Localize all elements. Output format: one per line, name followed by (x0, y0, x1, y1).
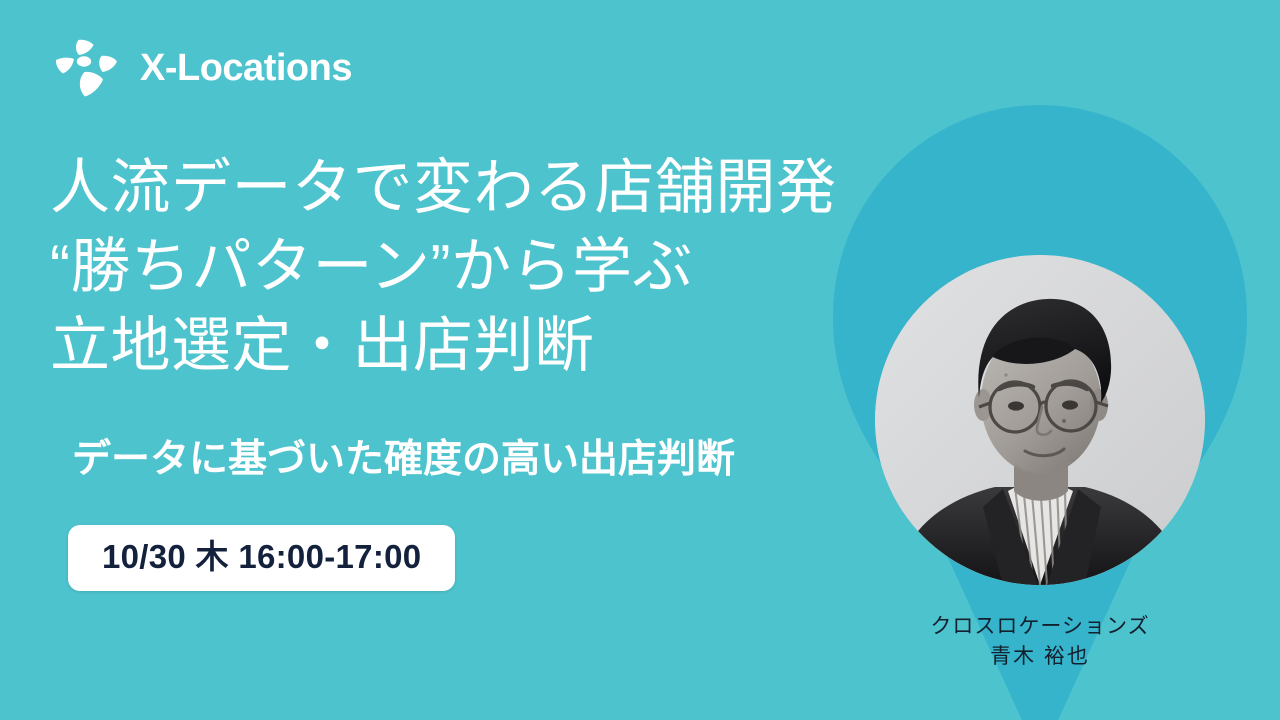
brand-name: X-Locations (140, 49, 352, 87)
headline-line-1: 人流データで変わる店舗開発 (50, 148, 880, 227)
headline: 人流データで変わる店舗開発 “勝ちパターン”から学ぶ 立地選定・出店判断 (50, 148, 880, 386)
schedule-badge[interactable]: 10/30 木 16:00-17:00 (68, 525, 455, 591)
subtitle: データに基づいた確度の高い出店判断 (72, 428, 735, 484)
speaker-avatar (875, 255, 1205, 585)
speaker-organization: クロスロケーションズ (880, 612, 1200, 642)
brand-logo[interactable]: X-Locations (52, 38, 352, 98)
webinar-banner: X-Locations 人流データで変わる店舗開発 “勝ちパターン”から学ぶ 立… (0, 0, 1280, 720)
x-locations-logo-icon (52, 38, 124, 98)
speaker-caption: クロスロケーションズ 青木 裕也 (880, 612, 1200, 672)
speaker-name: 青木 裕也 (880, 642, 1200, 672)
speaker-portrait-image (875, 255, 1205, 585)
headline-line-3: 立地選定・出店判断 (50, 306, 880, 385)
headline-line-2: “勝ちパターン”から学ぶ (50, 227, 880, 306)
schedule-badge-text: 10/30 木 16:00-17:00 (102, 539, 421, 575)
